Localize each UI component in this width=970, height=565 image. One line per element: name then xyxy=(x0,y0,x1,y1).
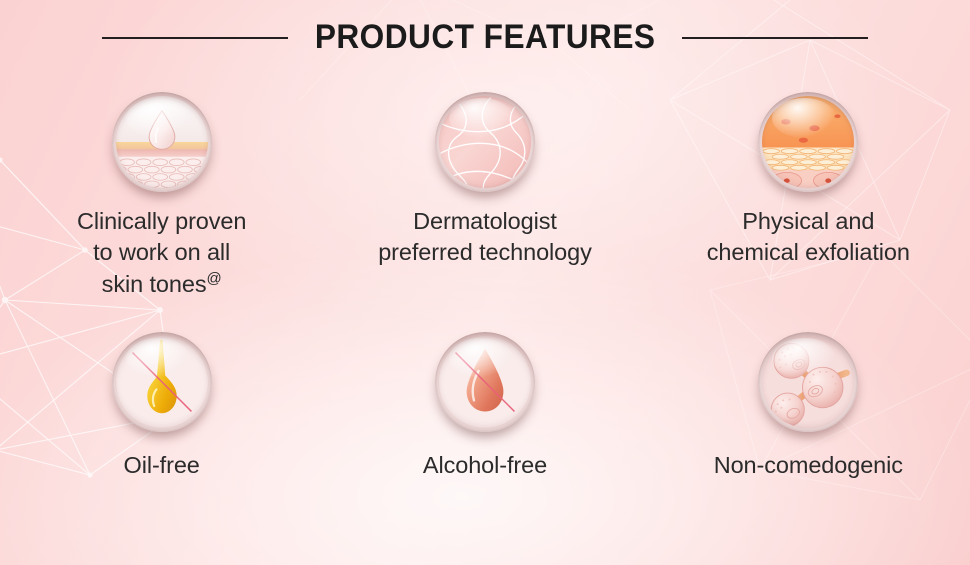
feature-item-oil-free: Oil-free xyxy=(0,332,323,522)
feature-label: Alcohol-free xyxy=(423,450,547,481)
feature-label: Clinically proven to work on all skin to… xyxy=(77,206,246,300)
header: PRODUCT FEATURES xyxy=(0,18,970,57)
feature-label: Dermatologist preferred technology xyxy=(378,206,592,269)
feature-item-dermatologist-preferred: Dermatologist preferred technology xyxy=(323,92,646,332)
feature-item-physical-chemical-exfoliation: Physical and chemical exfoliation xyxy=(647,92,970,332)
product-features-banner: PRODUCT FEATURES xyxy=(0,0,970,565)
molecule-spheres-icon xyxy=(758,332,858,432)
title-rule-left xyxy=(102,37,288,39)
feature-item-alcohol-free: Alcohol-free xyxy=(323,332,646,522)
feature-label: Physical and chemical exfoliation xyxy=(707,206,910,269)
alcohol-drop-crossed-out-icon xyxy=(435,332,535,432)
oil-drop-crossed-out-icon xyxy=(112,332,212,432)
droplet-on-skin-layers-icon xyxy=(112,92,212,192)
feature-label: Oil-free xyxy=(124,450,200,481)
feature-label: Non-comedogenic xyxy=(714,450,903,481)
page-title: PRODUCT FEATURES xyxy=(315,18,656,57)
skin-cross-section-pores-icon xyxy=(758,92,858,192)
feature-item-clinically-proven: Clinically proven to work on all skin to… xyxy=(0,92,323,332)
feature-item-non-comedogenic: Non-comedogenic xyxy=(647,332,970,522)
feature-grid: Clinically proven to work on all skin to… xyxy=(0,92,970,522)
title-rule-right xyxy=(682,37,868,39)
skin-texture-lines-icon xyxy=(435,92,535,192)
